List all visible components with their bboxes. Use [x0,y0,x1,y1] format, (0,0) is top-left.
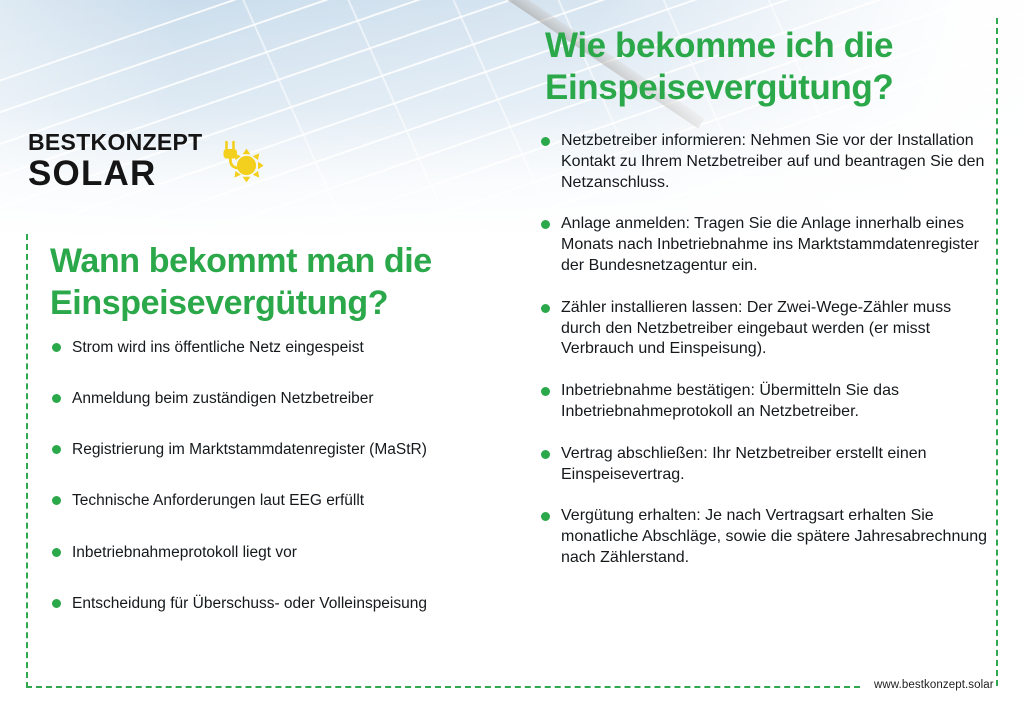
list-item: Anmeldung beim zuständigen Netzbetreiber [52,389,492,409]
brand-logo[interactable]: BESTKONZEPT SOLAR [28,131,269,191]
list-item-label: Inbetriebnahmeprotokoll liegt vor [72,543,297,563]
list-item: Inbetriebnahme bestätigen: Übermitteln S… [541,381,991,423]
bullet-dot-icon [52,496,61,505]
bullet-dot-icon [541,387,550,396]
list-item-label: Anmeldung beim zuständigen Netzbetreiber [72,389,374,409]
dashed-rule-bottom [26,686,860,688]
list-item-label: Zähler installieren lassen: Der Zwei-Weg… [561,298,991,360]
bullet-dot-icon [52,599,61,608]
list-item-label: Netzbetreiber informieren: Nehmen Sie vo… [561,131,991,193]
list-item: Technische Anforderungen laut EEG erfüll… [52,491,492,511]
list-item-label: Vertrag abschließen: Ihr Netzbetreiber e… [561,444,991,486]
brand-logo-line2: SOLAR [28,156,203,191]
list-item: Registrierung im Marktstammdatenregister… [52,440,492,460]
list-item: Zähler installieren lassen: Der Zwei-Weg… [541,298,991,360]
infographic-page: BESTKONZEPT SOLAR Wie [0,0,1024,717]
brand-logo-wordmark: BESTKONZEPT SOLAR [28,131,203,191]
list-item-label: Vergütung erhalten: Je nach Vertragsart … [561,506,991,568]
bullet-dot-icon [52,394,61,403]
bullet-dot-icon [52,445,61,454]
list-item-label: Inbetriebnahme bestätigen: Übermitteln S… [561,381,991,423]
list-item: Inbetriebnahmeprotokoll liegt vor [52,543,492,563]
list-item-label: Anlage anmelden: Tragen Sie die Anlage i… [561,214,991,276]
footer-website-url[interactable]: www.bestkonzept.solar [874,679,994,691]
list-item-label: Strom wird ins öffentliche Netz eingespe… [72,338,364,358]
bullet-dot-icon [541,137,550,146]
list-item-label: Entscheidung für Überschuss- oder Vollei… [72,594,427,614]
list-item: Strom wird ins öffentliche Netz eingespe… [52,338,492,358]
brand-logo-line1: BESTKONZEPT [28,131,203,154]
left-bullet-list: Strom wird ins öffentliche Netz eingespe… [52,338,492,614]
right-bullet-list: Netzbetreiber informieren: Nehmen Sie vo… [541,131,991,569]
bullet-dot-icon [52,343,61,352]
list-item: Vergütung erhalten: Je nach Vertragsart … [541,506,991,568]
list-item: Entscheidung für Überschuss- oder Vollei… [52,594,492,614]
background-fade-left [0,0,180,250]
bullet-dot-icon [541,304,550,313]
list-item: Netzbetreiber informieren: Nehmen Sie vo… [541,131,991,193]
dashed-rule-left [26,234,28,688]
sun-plug-icon [213,134,269,188]
bullet-dot-icon [541,512,550,521]
page-title-right: Wie bekomme ich die Einspeisevergütung? [545,25,975,110]
bullet-dot-icon [541,450,550,459]
dashed-rule-right [996,18,998,686]
list-item: Vertrag abschließen: Ihr Netzbetreiber e… [541,444,991,486]
bullet-dot-icon [52,548,61,557]
page-title-left: Wann bekommt man die Einspeisevergütung? [50,240,510,324]
list-item: Anlage anmelden: Tragen Sie die Anlage i… [541,214,991,276]
bullet-dot-icon [541,220,550,229]
list-item-label: Technische Anforderungen laut EEG erfüll… [72,491,364,511]
list-item-label: Registrierung im Marktstammdatenregister… [72,440,427,460]
